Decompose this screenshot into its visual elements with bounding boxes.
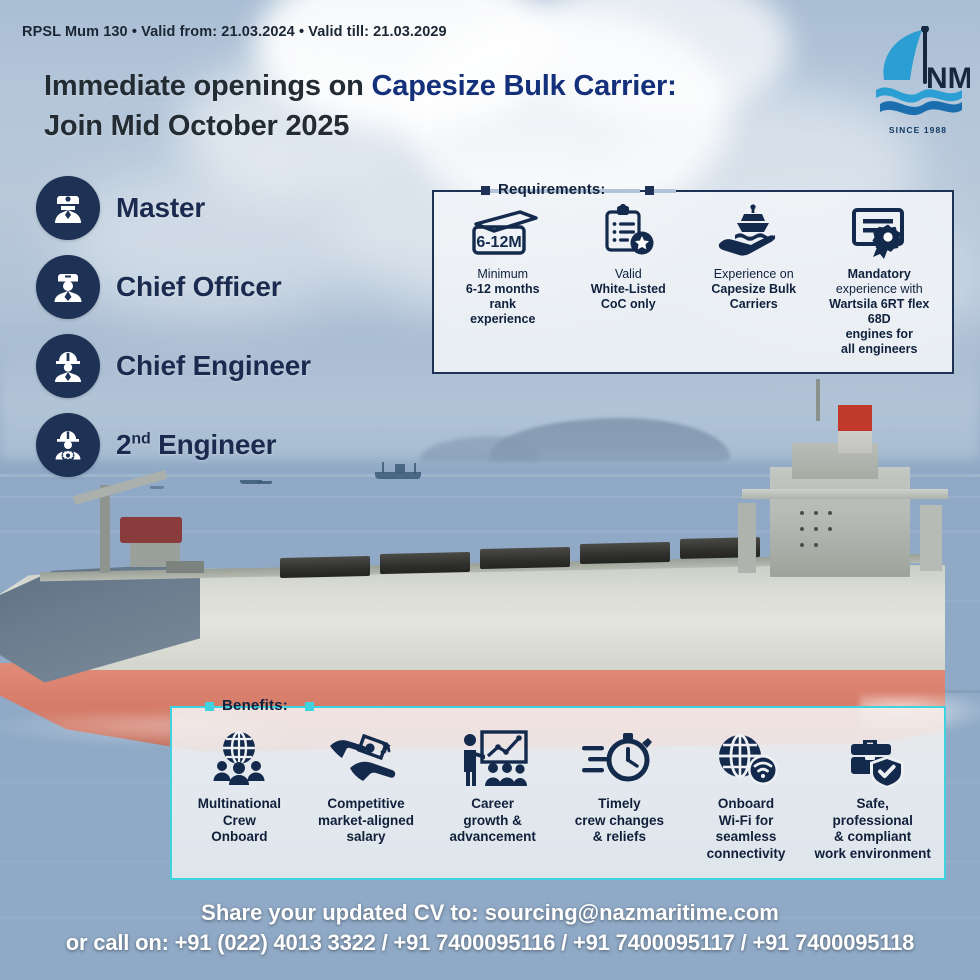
company-logo: NMS SINCE 1988 — [866, 26, 970, 144]
req-line-4: experience — [470, 312, 535, 326]
req-line-4: engines for — [846, 327, 913, 341]
ben-line-1: Career — [471, 796, 514, 811]
rank-label-rest: Engineer — [151, 429, 277, 460]
globe-wifi-icon — [710, 726, 782, 788]
benefits-title-marker-left — [205, 702, 214, 711]
rank-item-chief-officer[interactable]: Chief Officer — [36, 247, 416, 326]
benefits-card-row: Multinational Crew Onboard Competitive m… — [176, 726, 936, 862]
req-line-2: experience with — [836, 282, 923, 296]
rank-label: Chief Engineer — [116, 350, 311, 382]
globe-crew-icon — [206, 726, 272, 788]
benefit-text: Multinational Crew Onboard — [198, 796, 281, 846]
ship-on-hand-icon — [711, 200, 797, 260]
benefits-title: Benefits: — [222, 697, 288, 714]
benefits-title-marker-right — [305, 702, 314, 711]
req-line-2: Capesize Bulk — [711, 282, 796, 296]
logo-tagline: SINCE 1988 — [866, 125, 970, 135]
req-line-3: Carriers — [730, 297, 778, 311]
req-line-3: rank — [490, 297, 516, 311]
rank-label: Master — [116, 192, 205, 224]
requirement-card-capesize: Experience on Capesize Bulk Carriers — [691, 200, 817, 357]
ben-line-3: seamless — [716, 829, 777, 844]
briefcase-shield-icon — [837, 726, 909, 788]
benefit-card-wifi: Onboard Wi-Fi for seamless connectivity — [683, 726, 810, 862]
calendar-6-12m-icon: 6-12M — [464, 200, 542, 260]
ben-line-3: & reliefs — [593, 829, 646, 844]
ben-line-1: Competitive — [327, 796, 404, 811]
ben-line-2: professional — [833, 813, 913, 828]
headline-accent: Capesize Bulk Carrier: — [372, 70, 677, 102]
ben-line-1: Safe, — [857, 796, 889, 811]
req-line-1: Experience on — [714, 267, 794, 281]
benefit-card-salary: Competitive market-aligned salary — [303, 726, 430, 862]
ben-line-3: & compliant — [834, 829, 911, 844]
ben-line-3: Onboard — [211, 829, 267, 844]
rank-openings-list: Master Chief Officer — [36, 168, 416, 484]
panel-title-mask — [652, 189, 676, 193]
ben-line-4: work environment — [815, 846, 931, 861]
benefit-card-crew-changes: Timely crew changes & reliefs — [556, 726, 683, 862]
rank-item-second-engineer[interactable]: 2nd Engineer — [36, 405, 416, 484]
engineer-helmet-icon — [36, 334, 100, 398]
rank-item-master[interactable]: Master — [36, 168, 416, 247]
ben-line-3: advancement — [450, 829, 536, 844]
requirement-card-engine: Mandatory experience with Wartsila 6RT f… — [817, 200, 943, 357]
requirement-card-coc: Valid White-Listed CoC only — [566, 200, 692, 357]
clipboard-star-icon — [595, 200, 661, 260]
ben-line-1: Onboard — [718, 796, 774, 811]
ben-line-2: market-aligned — [318, 813, 414, 828]
engineer-gear-icon — [36, 413, 100, 477]
requirement-text: Experience on Capesize Bulk Carriers — [711, 267, 796, 312]
benefit-text: Career growth & advancement — [450, 796, 536, 846]
benefit-text: Timely crew changes & reliefs — [575, 796, 664, 846]
req-line-3: Wartsila 6RT flex 68D — [829, 297, 929, 326]
rank-label-number: 2 — [116, 429, 131, 460]
req-line-3: CoC only — [601, 297, 656, 311]
benefit-text: Competitive market-aligned salary — [318, 796, 414, 846]
headline-line-1: Immediate openings on Capesize Bulk Carr… — [44, 66, 844, 106]
benefit-text: Safe, professional & compliant work envi… — [815, 796, 931, 862]
ben-line-2: Wi-Fi for — [719, 813, 774, 828]
hand-money-icon — [324, 726, 408, 788]
requirement-text: Mandatory experience with Wartsila 6RT f… — [820, 267, 940, 357]
rank-label-suffix: nd — [131, 430, 150, 447]
ben-line-2: growth & — [463, 813, 522, 828]
contact-footer: Share your updated CV to: sourcing@nazma… — [0, 898, 980, 958]
requirements-title: Requirements: — [498, 181, 606, 198]
footer-phone-line[interactable]: or call on: +91 (022) 4013 3322 / +91 74… — [0, 928, 980, 958]
headline-plain: Immediate openings on — [44, 70, 372, 102]
licence-bar: RPSL Mum 130 • Valid from: 21.03.2024 • … — [22, 24, 447, 40]
requirements-title-marker-right — [645, 186, 654, 195]
benefit-card-safe-work: Safe, professional & compliant work envi… — [809, 726, 936, 862]
headline-block: Immediate openings on Capesize Bulk Carr… — [44, 66, 844, 146]
ben-line-1: Multinational — [198, 796, 281, 811]
career-chart-icon — [456, 726, 530, 788]
req-line-2: White-Listed — [591, 282, 666, 296]
bulk-carrier-ship — [0, 445, 980, 745]
req-line-5: all engineers — [841, 342, 917, 356]
req-line-1: Minimum — [477, 267, 528, 281]
benefit-text: Onboard Wi-Fi for seamless connectivity — [707, 796, 786, 862]
ben-line-2: Crew — [223, 813, 256, 828]
benefit-card-career-growth: Career growth & advancement — [429, 726, 556, 862]
req-line-2: 6-12 months — [466, 282, 540, 296]
captain-officer-icon — [36, 176, 100, 240]
rank-item-chief-engineer[interactable]: Chief Engineer — [36, 326, 416, 405]
deck-officer-icon — [36, 255, 100, 319]
poster-canvas: RPSL Mum 130 • Valid from: 21.03.2024 • … — [0, 0, 980, 980]
req-line-1: Mandatory — [848, 267, 911, 281]
requirement-card-experience-months: 6-12M Minimum 6-12 months rank experienc… — [440, 200, 566, 357]
req-line-1: Valid — [615, 267, 642, 281]
certificate-seal-icon — [844, 200, 914, 260]
benefit-card-multinational-crew: Multinational Crew Onboard — [176, 726, 303, 862]
ben-line-1: Timely — [598, 796, 641, 811]
ben-line-4: connectivity — [707, 846, 786, 861]
rank-label: Chief Officer — [116, 271, 281, 303]
requirement-text: Valid White-Listed CoC only — [591, 267, 666, 312]
headline-line-2: Join Mid October 2025 — [44, 106, 844, 146]
requirements-card-row: 6-12M Minimum 6-12 months rank experienc… — [440, 200, 942, 357]
ben-line-2: crew changes — [575, 813, 664, 828]
requirement-text: Minimum 6-12 months rank experience — [466, 267, 540, 327]
stopwatch-fast-icon — [580, 726, 658, 788]
footer-email-line[interactable]: Share your updated CV to: sourcing@nazma… — [0, 898, 980, 928]
requirement-badge-text: 6-12M — [476, 234, 521, 251]
ben-line-3: salary — [346, 829, 385, 844]
sailboat-logo-icon: NMS — [866, 26, 970, 126]
requirements-title-marker-left — [481, 186, 490, 195]
rank-label: 2nd Engineer — [116, 429, 276, 461]
